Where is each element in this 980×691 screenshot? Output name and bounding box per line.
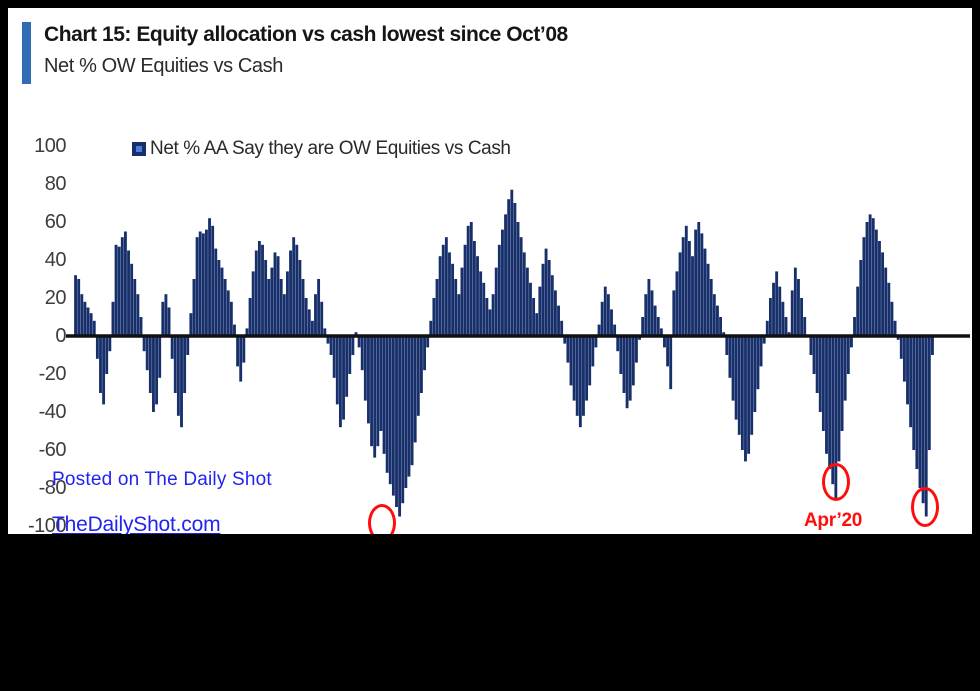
bar	[591, 336, 594, 366]
bar	[171, 336, 174, 359]
bar	[143, 336, 146, 351]
bar	[529, 283, 532, 336]
bar	[230, 302, 233, 336]
bar	[781, 302, 784, 336]
bar	[489, 309, 492, 336]
bar	[436, 279, 439, 336]
bar	[333, 336, 336, 378]
bar	[214, 249, 217, 336]
bar	[461, 268, 464, 336]
bar	[866, 222, 869, 336]
bar	[239, 336, 242, 382]
bar	[579, 336, 582, 427]
bar	[791, 290, 794, 336]
bar	[610, 309, 613, 336]
bar	[121, 237, 124, 336]
bar	[878, 241, 881, 336]
bar	[831, 336, 834, 484]
bar	[713, 294, 716, 336]
bar	[604, 287, 607, 336]
bar	[217, 260, 220, 336]
bar	[77, 279, 80, 336]
bar	[364, 336, 367, 401]
bar	[498, 245, 501, 336]
bar	[224, 279, 227, 336]
bar	[389, 336, 392, 484]
bar	[208, 218, 211, 336]
bar	[83, 302, 86, 336]
bar	[379, 336, 382, 431]
bar	[735, 336, 738, 420]
bar	[90, 313, 93, 336]
bar	[124, 232, 127, 337]
bar	[348, 336, 351, 374]
bar	[647, 279, 650, 336]
bar	[351, 336, 354, 355]
bar	[479, 271, 482, 336]
bar	[227, 290, 230, 336]
bar	[588, 336, 591, 385]
screenshot-frame: Chart 15: Equity allocation vs cash lowe…	[0, 0, 980, 691]
bar	[507, 199, 510, 336]
bar	[242, 336, 245, 363]
bar	[261, 245, 264, 336]
bar	[445, 237, 448, 336]
bar	[140, 317, 143, 336]
bar	[931, 336, 934, 355]
bar	[557, 306, 560, 336]
bar	[501, 230, 504, 336]
bar	[289, 251, 292, 337]
bar	[566, 336, 569, 363]
bar	[542, 264, 545, 336]
bar	[193, 279, 196, 336]
bar	[881, 252, 884, 336]
bar	[177, 336, 180, 416]
bar	[919, 336, 922, 488]
bar	[401, 336, 404, 503]
bar	[202, 233, 205, 336]
bar	[928, 336, 931, 450]
bar	[395, 336, 398, 507]
bar	[236, 336, 239, 366]
bar	[691, 256, 694, 336]
bar	[694, 230, 697, 336]
bar	[295, 245, 298, 336]
bar	[891, 302, 894, 336]
bar	[485, 298, 488, 336]
legend-label: Net % AA Say they are OW Equities vs Cas…	[150, 138, 511, 160]
bar	[186, 336, 189, 355]
bar	[797, 279, 800, 336]
bar	[766, 321, 769, 336]
bar	[523, 252, 526, 336]
bar	[841, 336, 844, 431]
bar	[476, 256, 479, 336]
bar	[747, 336, 750, 454]
bar	[464, 245, 467, 336]
bar	[859, 260, 862, 336]
bar	[785, 317, 788, 336]
bar	[454, 279, 457, 336]
bar	[305, 298, 308, 336]
bar	[277, 256, 280, 336]
bar	[560, 321, 563, 336]
bar	[847, 336, 850, 374]
bar	[211, 226, 214, 336]
bar	[719, 317, 722, 336]
bar	[133, 279, 136, 336]
bar	[115, 245, 118, 336]
bar	[470, 222, 473, 336]
bar	[513, 203, 516, 336]
bar	[149, 336, 152, 393]
bar	[750, 336, 753, 435]
bar	[654, 306, 657, 336]
bar	[411, 336, 414, 465]
bar	[538, 287, 541, 336]
bar	[155, 336, 158, 404]
bar	[573, 336, 576, 401]
bar	[370, 336, 373, 446]
bar	[778, 287, 781, 336]
bar	[635, 336, 638, 363]
bar	[732, 336, 735, 401]
bar	[258, 241, 261, 336]
bar	[623, 336, 626, 393]
bar	[442, 245, 445, 336]
bar	[875, 230, 878, 336]
bar	[118, 247, 121, 336]
bar	[682, 237, 685, 336]
bar	[644, 294, 647, 336]
bar	[704, 249, 707, 336]
bar	[108, 336, 111, 351]
bar	[679, 252, 682, 336]
bar	[813, 336, 816, 374]
bar	[130, 264, 133, 336]
bar	[753, 336, 756, 412]
bar	[392, 336, 395, 496]
bar	[451, 264, 454, 336]
bar	[585, 336, 588, 401]
bar	[526, 268, 529, 336]
bar	[657, 317, 660, 336]
bar	[414, 336, 417, 442]
bar	[688, 241, 691, 336]
bar	[744, 336, 747, 461]
bar	[127, 251, 130, 337]
bar	[408, 336, 411, 477]
bar	[772, 283, 775, 336]
bar	[869, 214, 872, 336]
bar	[317, 279, 320, 336]
bar	[850, 336, 853, 347]
bar	[358, 336, 361, 347]
bar	[183, 336, 186, 393]
bar	[457, 294, 460, 336]
bar	[570, 336, 573, 385]
bar	[308, 309, 311, 336]
bar	[887, 283, 890, 336]
bar	[809, 336, 812, 355]
bar	[872, 218, 875, 336]
plot-area: 100806040200-20-40-60-80-100 Net % AA Sa…	[8, 8, 972, 534]
bar	[398, 336, 401, 517]
bar	[252, 271, 255, 336]
bar	[105, 336, 108, 374]
bar	[136, 294, 139, 336]
bar	[373, 336, 376, 458]
legend-square-swatch-icon	[132, 142, 146, 156]
bar	[884, 268, 887, 336]
bar	[504, 214, 507, 336]
bar	[554, 290, 557, 336]
bar	[535, 313, 538, 336]
bar	[697, 222, 700, 336]
bar	[616, 336, 619, 351]
bar	[482, 283, 485, 336]
bar	[819, 336, 822, 412]
bar	[822, 336, 825, 431]
bars-group	[74, 190, 934, 517]
bar	[383, 336, 386, 454]
bar	[102, 336, 105, 404]
bar	[532, 298, 535, 336]
bar	[152, 336, 155, 412]
bar	[448, 252, 451, 336]
bar	[80, 294, 83, 336]
bar	[164, 294, 167, 336]
bar	[280, 279, 283, 336]
annotation-circle-latest	[911, 487, 939, 527]
bar	[769, 298, 772, 336]
bar	[221, 268, 224, 336]
bar	[828, 336, 831, 469]
bar	[900, 336, 903, 359]
bar	[199, 232, 202, 337]
bar	[666, 336, 669, 366]
bar	[800, 298, 803, 336]
bar	[423, 336, 426, 370]
bar	[361, 336, 364, 370]
bar	[517, 222, 520, 336]
bar	[629, 336, 632, 401]
bar	[903, 336, 906, 382]
posted-watermark: Posted on The Daily Shot	[52, 469, 272, 491]
bar	[158, 336, 161, 378]
bar	[146, 336, 149, 370]
bar	[93, 321, 96, 336]
bar	[367, 336, 370, 423]
bar	[922, 336, 925, 503]
bar	[757, 336, 760, 389]
bar	[292, 237, 295, 336]
bar	[74, 275, 77, 336]
bar	[196, 237, 199, 336]
bar	[545, 249, 548, 336]
bar	[96, 336, 99, 359]
bar	[594, 336, 597, 347]
bar	[685, 226, 688, 336]
bar	[548, 260, 551, 336]
bar	[632, 336, 635, 385]
bar	[336, 336, 339, 404]
chart-card: Chart 15: Equity allocation vs cash lowe…	[8, 8, 972, 534]
bar	[915, 336, 918, 469]
bar	[264, 260, 267, 336]
bar	[906, 336, 909, 404]
bar	[249, 298, 252, 336]
bar	[495, 268, 498, 336]
bar	[205, 230, 208, 336]
bar	[641, 317, 644, 336]
bar	[330, 336, 333, 355]
bar	[894, 321, 897, 336]
bar	[255, 251, 258, 337]
bar	[342, 336, 345, 420]
bar	[853, 317, 856, 336]
bar	[168, 308, 171, 337]
bar	[180, 336, 183, 427]
bar	[339, 336, 342, 427]
bar	[803, 317, 806, 336]
bar	[298, 260, 301, 336]
bar	[741, 336, 744, 450]
bar	[270, 268, 273, 336]
bar	[267, 279, 270, 336]
bar	[710, 279, 713, 336]
bar	[725, 336, 728, 355]
bar	[520, 237, 523, 336]
bar	[676, 271, 679, 336]
bar	[844, 336, 847, 401]
bar	[404, 336, 407, 488]
bar	[432, 298, 435, 336]
annotation-circle-apr20	[822, 463, 850, 501]
bar	[161, 302, 164, 336]
annotation-label-apr20: Apr’20	[804, 510, 862, 532]
bar	[775, 271, 778, 336]
bar	[286, 271, 289, 336]
bar	[601, 302, 604, 336]
bar	[345, 336, 348, 397]
bar	[311, 321, 314, 336]
bar	[314, 294, 317, 336]
bar	[700, 233, 703, 336]
bar	[651, 290, 654, 336]
bar	[320, 302, 323, 336]
bar	[707, 264, 710, 336]
bar	[582, 336, 585, 416]
bar	[429, 321, 432, 336]
bar	[439, 256, 442, 336]
bar	[613, 325, 616, 336]
bar	[626, 336, 629, 408]
bar	[619, 336, 622, 374]
bar	[825, 336, 828, 454]
bar	[112, 302, 115, 336]
site-link-watermark[interactable]: TheDailyShot.com	[52, 513, 220, 534]
bar-series-svg	[8, 8, 972, 534]
bar	[376, 336, 379, 446]
bar	[473, 241, 476, 336]
bar	[760, 336, 763, 366]
bar	[189, 313, 192, 336]
bar	[467, 226, 470, 336]
bar	[283, 294, 286, 336]
bar	[909, 336, 912, 427]
bar	[492, 294, 495, 336]
bar	[912, 336, 915, 450]
bar	[838, 336, 841, 461]
bar	[728, 336, 731, 378]
bar	[576, 336, 579, 416]
bar	[99, 336, 102, 393]
bar	[794, 268, 797, 336]
bar	[716, 306, 719, 336]
bar	[862, 237, 865, 336]
bar	[663, 336, 666, 347]
bar	[510, 190, 513, 336]
bar	[274, 252, 277, 336]
annotation-circle-oct08	[368, 504, 396, 534]
bar	[856, 287, 859, 336]
bar	[174, 336, 177, 393]
bar	[302, 279, 305, 336]
bar	[233, 325, 236, 336]
bar	[598, 325, 601, 336]
bar	[669, 336, 672, 389]
bar	[417, 336, 420, 416]
legend: Net % AA Say they are OW Equities vs Cas…	[132, 138, 511, 160]
bar	[87, 308, 90, 337]
bar	[607, 294, 610, 336]
bar	[672, 290, 675, 336]
bar	[816, 336, 819, 393]
bar	[551, 275, 554, 336]
bar	[426, 336, 429, 347]
bar	[420, 336, 423, 393]
bar	[386, 336, 389, 473]
bar	[738, 336, 741, 435]
